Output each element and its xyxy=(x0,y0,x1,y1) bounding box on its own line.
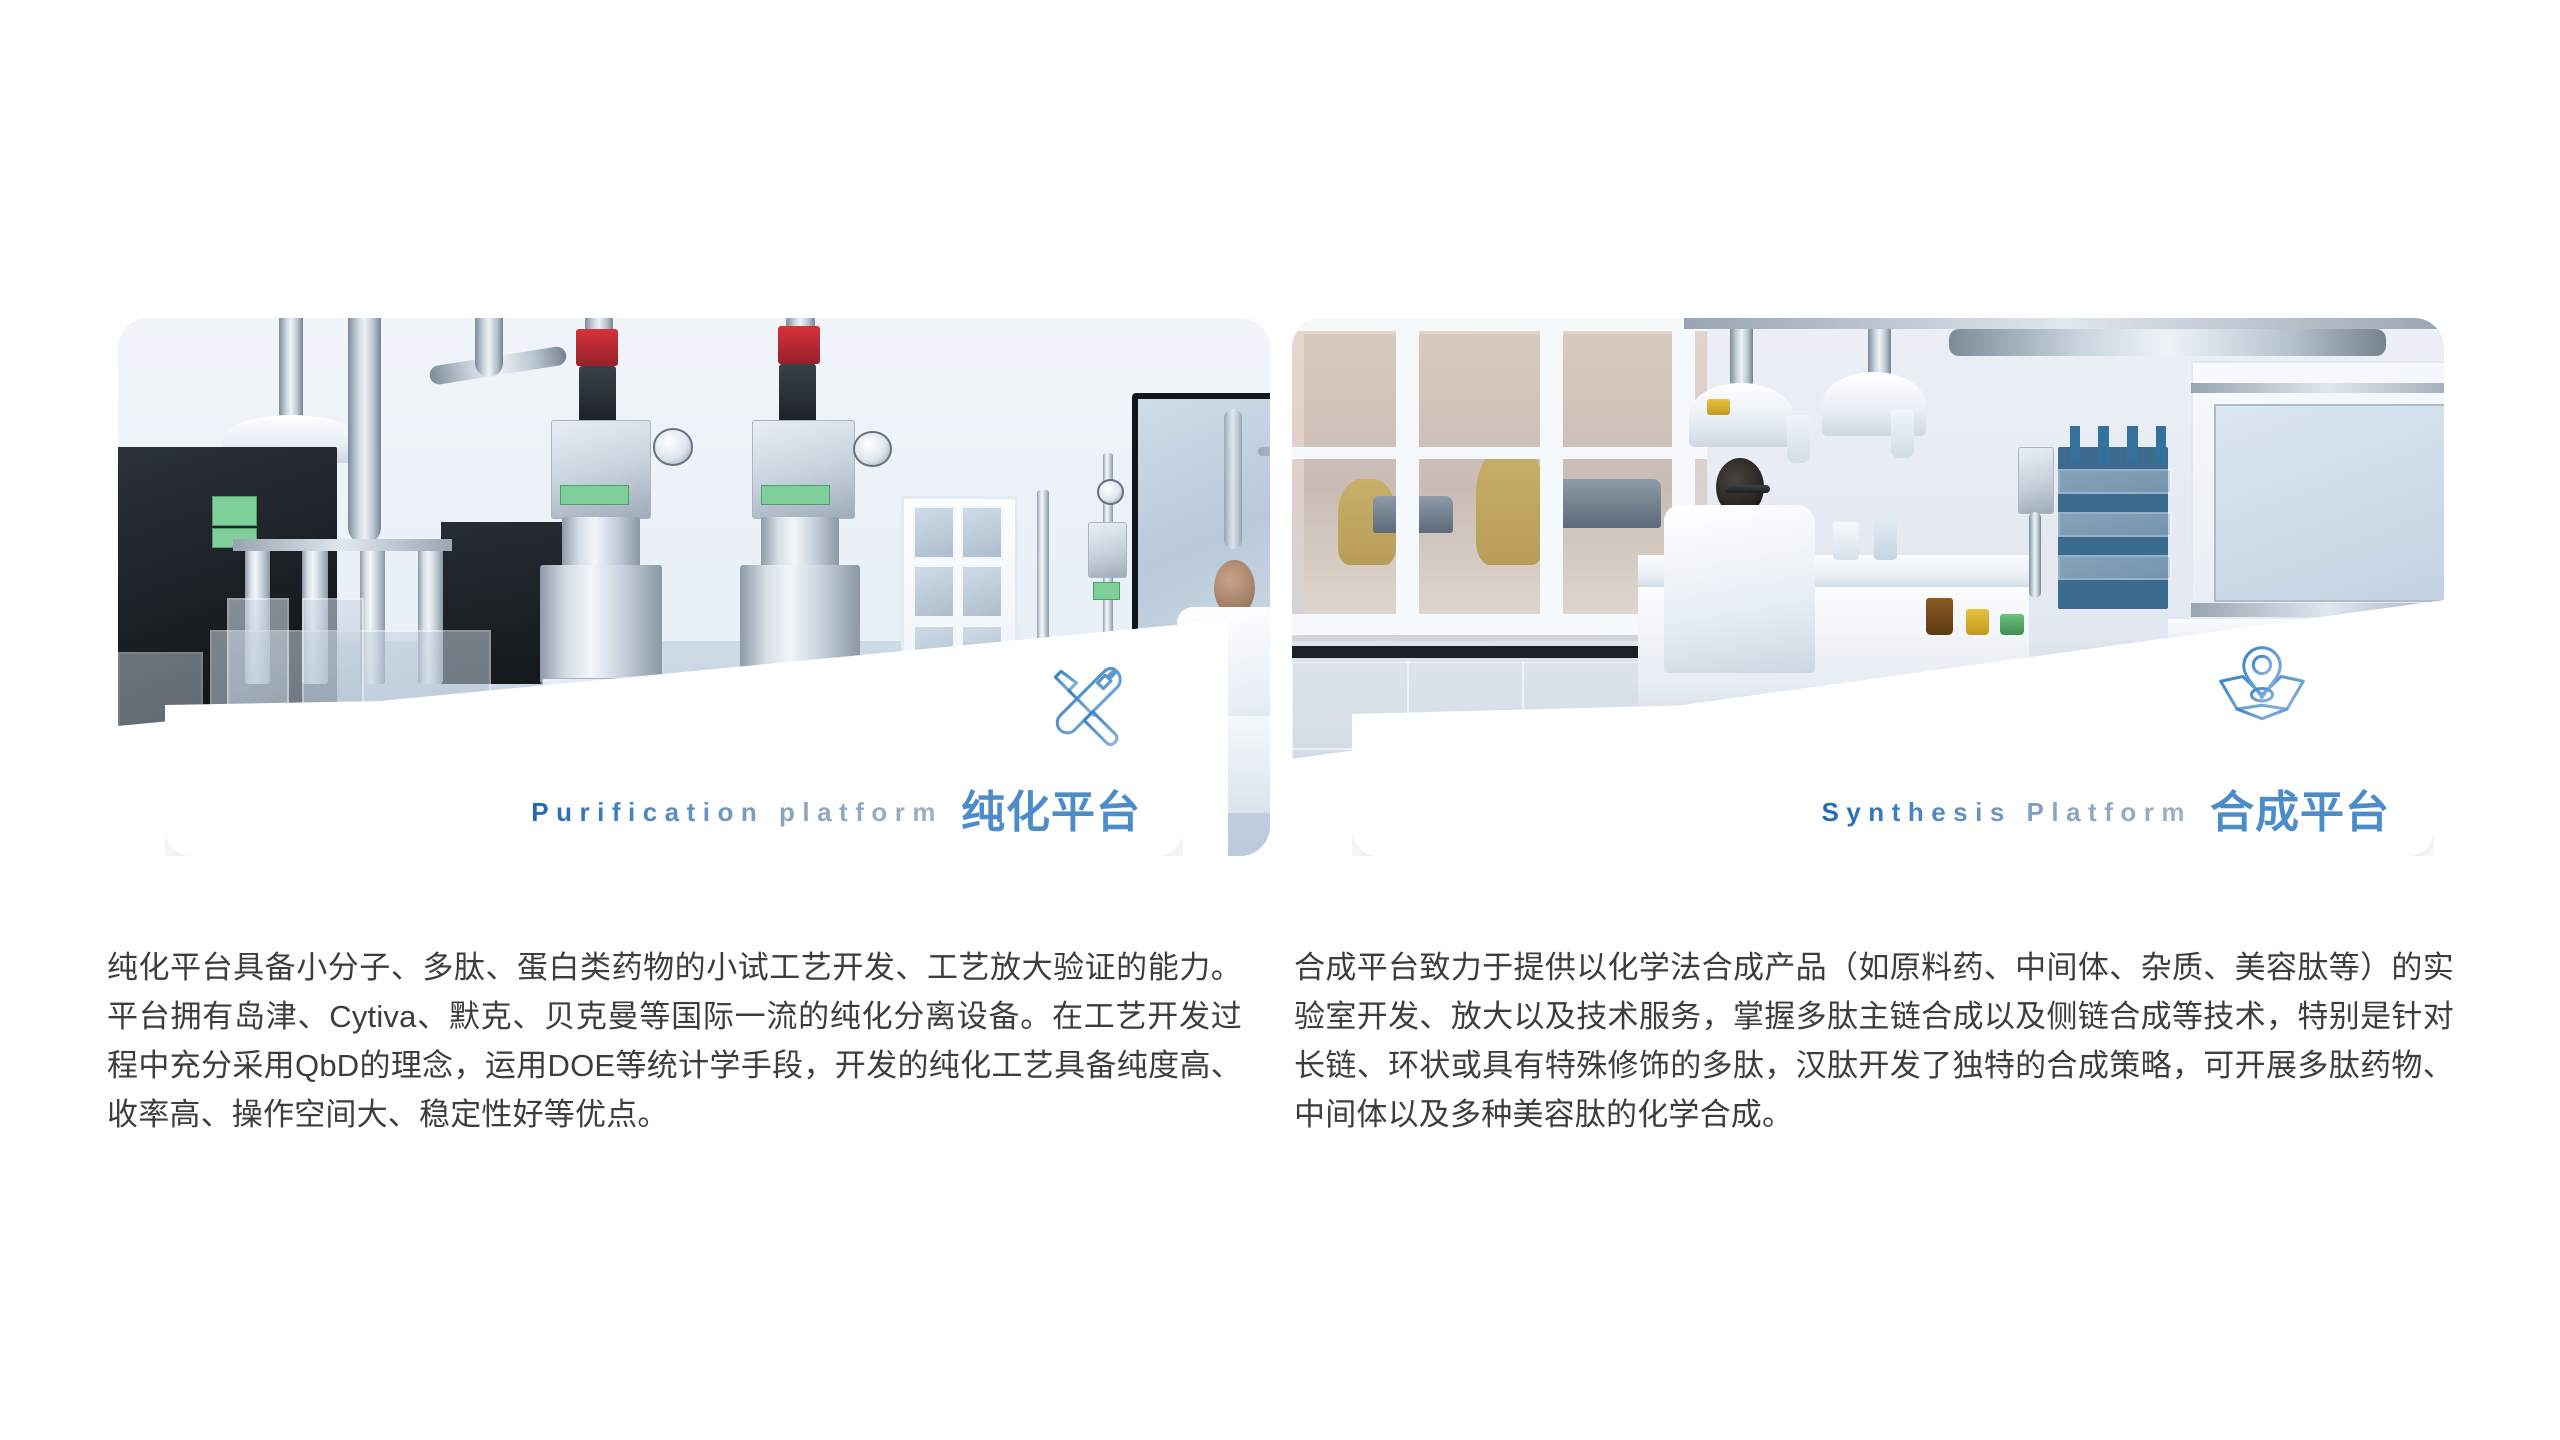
map-pin-book-icon xyxy=(2214,640,2310,736)
platform-description-purification: 纯化平台具备小分子、多肽、蛋白类药物的小试工艺开发、工艺放大验证的能力。平台拥有… xyxy=(107,943,1242,1139)
platform-description-synthesis: 合成平台致力于提供以化学法合成产品（如原料药、中间体、杂质、美容肽等）的实验室开… xyxy=(1294,943,2454,1139)
page-root: Purification platform 纯化平台 纯化平台具备小分子、多肽、… xyxy=(0,0,2560,1440)
platform-title-en-synthesis: Synthesis Platform xyxy=(1821,797,2192,828)
platform-title-cn-synthesis: 合成平台 xyxy=(2210,776,2390,840)
wrench-screwdriver-icon xyxy=(1040,656,1136,752)
platform-title-synthesis: Synthesis Platform 合成平台 xyxy=(0,770,2434,834)
